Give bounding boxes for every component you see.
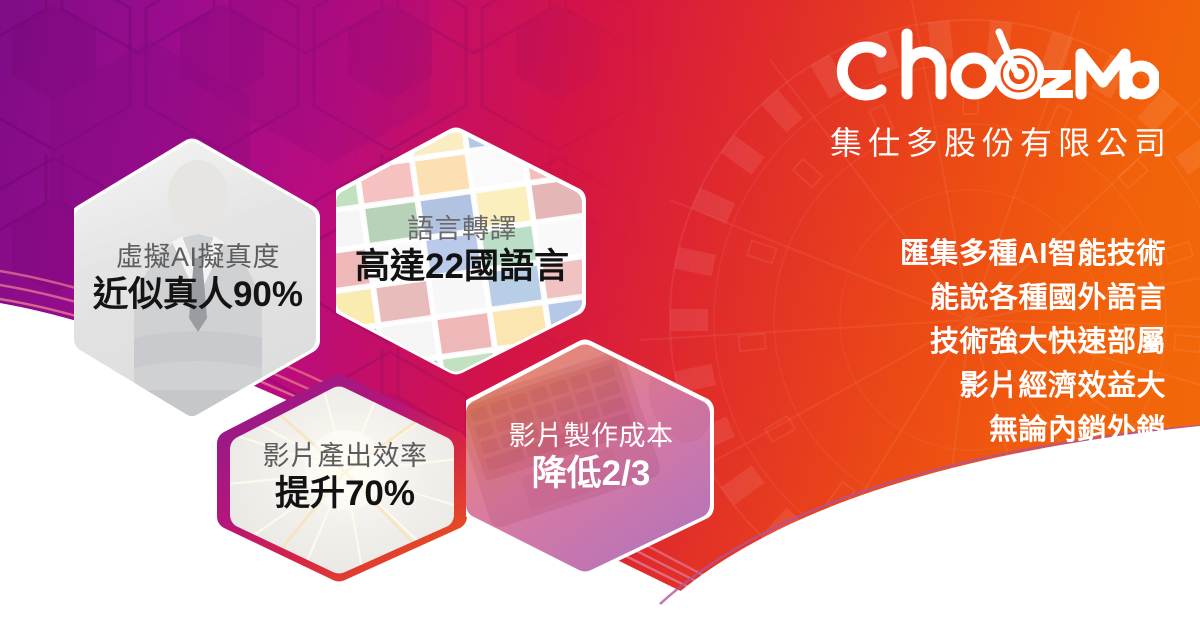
brand-logo-block[interactable]: 集仕多股份有限公司	[824, 24, 1164, 164]
feature-item: 技術強大快速部屬	[806, 320, 1166, 364]
highlight-label: 虛擬AI擬真度	[80, 243, 316, 273]
highlight-label: 影片產出效率	[220, 442, 470, 472]
feature-item: 能說各種國外語言	[806, 276, 1166, 320]
highlight-value: 降低2/3	[472, 455, 710, 494]
highlight-label: 語言轉譯	[342, 215, 582, 245]
feature-item: 無論內銷外銷	[806, 408, 1166, 452]
feature-list: 匯集多種AI智能技術 能說各種國外語言 技術強大快速部屬 影片經濟效益大 無論內…	[806, 232, 1166, 496]
highlight-card-video-production-cost[interactable]: 影片製作成本 降低2/3	[466, 338, 716, 578]
highlight-value: 提升70%	[220, 475, 470, 514]
highlight-label: 影片製作成本	[472, 422, 710, 452]
highlight-card-video-output-efficiency[interactable]: 影片產出效率 提升70%	[214, 372, 476, 584]
feature-item: 嘴型真實感	[806, 452, 1166, 496]
company-name: 集仕多股份有限公司	[824, 118, 1164, 164]
promo-banner: 虛擬AI擬真度 近似真人90%	[0, 0, 1200, 628]
highlight-value: 高達22國語言	[342, 248, 582, 287]
highlight-value: 近似真人90%	[80, 276, 316, 315]
feature-item: 影片經濟效益大	[806, 364, 1166, 408]
bullseye-target-icon	[997, 32, 1041, 96]
feature-item: 匯集多種AI智能技術	[806, 232, 1166, 276]
choozmo-logo-icon	[829, 24, 1159, 110]
